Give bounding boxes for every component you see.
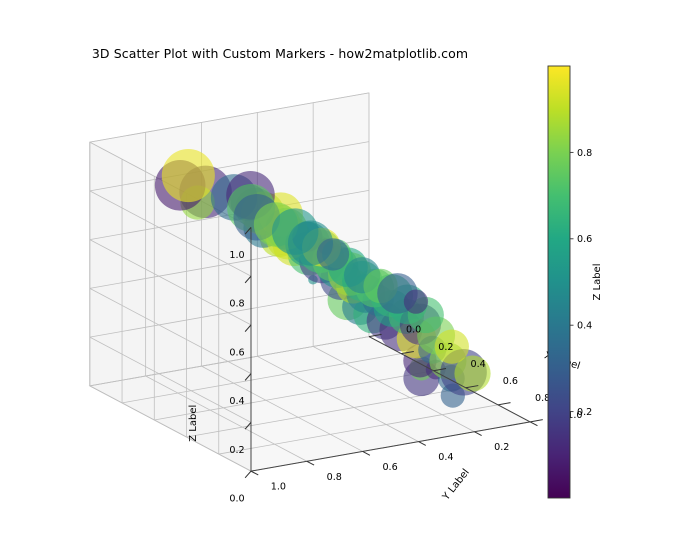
colorbar: 0.20.40.60.8 Z Label bbox=[0, 0, 700, 560]
colorbar-tick-label: 0.4 bbox=[577, 321, 592, 332]
colorbar-tick-label: 0.8 bbox=[577, 148, 592, 159]
colorbar-label: Z Label bbox=[592, 263, 603, 300]
colorbar-ticks: 0.20.40.60.8 bbox=[570, 148, 592, 418]
colorbar-tick-label: 0.6 bbox=[577, 234, 592, 245]
colorbar-tick-label: 0.2 bbox=[577, 407, 592, 418]
matplotlib-figure: 3D Scatter Plot with Custom Markers - ho… bbox=[0, 0, 700, 560]
colorbar-gradient bbox=[548, 66, 570, 498]
